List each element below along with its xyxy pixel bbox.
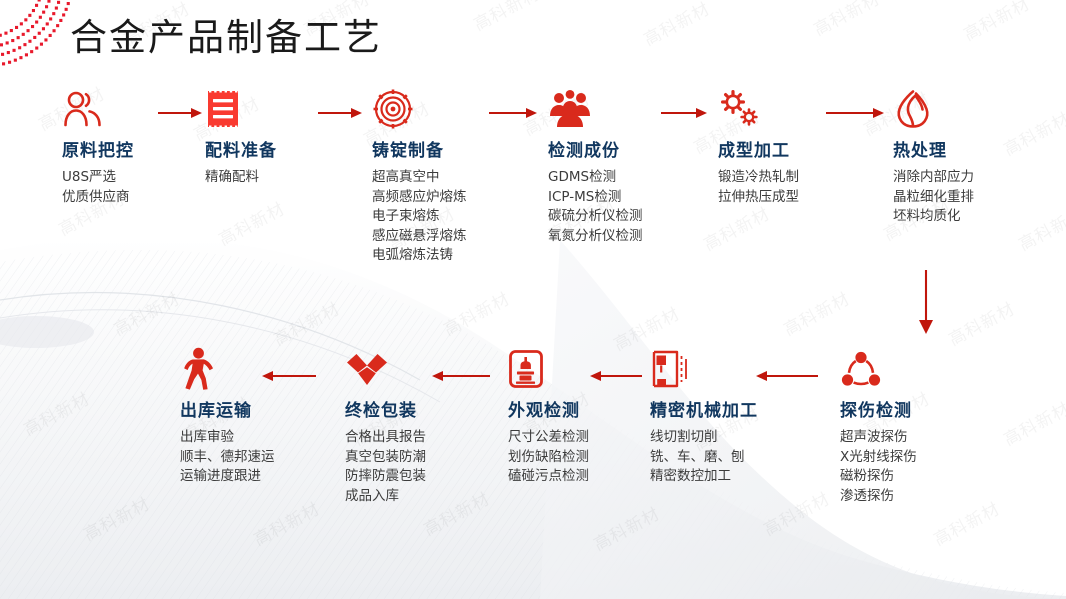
arrow-down-row-connector xyxy=(900,268,952,338)
process-step-detail-line: 锻造冷热轧制 xyxy=(718,168,868,188)
process-step-detail-line: 真空包装防潮 xyxy=(345,448,495,468)
process-step-detail-line: 精确配料 xyxy=(205,168,355,188)
process-step-detail-line: 氧氮分析仪检测 xyxy=(548,227,698,247)
process-step-detail-line: 磁粉探伤 xyxy=(840,467,990,487)
process-step-detail-line: 线切割切削 xyxy=(650,428,800,448)
process-row-bottom: 出库运输出库审验顺丰、德邦速运运输进度跟进 终检包装合格出具报告真空包装防潮防摔… xyxy=(0,348,1066,538)
process-step-details: GDMS检测ICP-MS检测碳硫分析仪检测氧氮分析仪检测 xyxy=(548,168,698,246)
watermark-text: 高科新材 xyxy=(943,295,1018,351)
dotted-arc-decoration xyxy=(0,0,74,86)
process-step-details: U8S严选优质供应商 xyxy=(62,168,212,207)
process-step-details: 消除内部应力晶粒细化重排坯料均质化 xyxy=(893,168,1043,227)
process-step-detail-line: 运输进度跟进 xyxy=(180,467,330,487)
process-step-detail-line: GDMS检测 xyxy=(548,168,698,188)
process-step-detail-line: 消除内部应力 xyxy=(893,168,1043,188)
process-step-detail-line: U8S严选 xyxy=(62,168,212,188)
watermark-text: 高科新材 xyxy=(778,285,853,341)
process-step-details: 精确配料 xyxy=(205,168,355,188)
process-step-detail-line: 防摔防震包装 xyxy=(345,467,495,487)
process-step-detail-line: 感应磁悬浮熔炼 xyxy=(372,227,522,247)
arrow-left-4 xyxy=(756,368,818,384)
flame-icon xyxy=(893,88,1043,130)
process-step-detail-line: 合格出具报告 xyxy=(345,428,495,448)
process-step-detail-line: 渗透探伤 xyxy=(840,487,990,507)
watermark-text: 高科新材 xyxy=(958,0,1033,45)
watermark-text: 高科新材 xyxy=(268,295,343,351)
process-step-heat-treatment[interactable]: 热处理消除内部应力晶粒细化重排坯料均质化 xyxy=(893,88,1043,227)
process-step-detail-line: 超高真空中 xyxy=(372,168,522,188)
process-step-detail-line: 尺寸公差检测 xyxy=(508,428,658,448)
process-step-title: 配料准备 xyxy=(205,136,355,161)
watermark-text: 高科新材 xyxy=(438,285,513,341)
watermark-text: 高科新材 xyxy=(468,0,543,35)
process-step-detail-line: 磕碰污点检测 xyxy=(508,467,658,487)
process-step-title: 检测成份 xyxy=(548,136,698,161)
process-step-title: 热处理 xyxy=(893,136,1043,161)
arrow-right-2 xyxy=(318,105,362,121)
process-step-title: 成型加工 xyxy=(718,136,868,161)
process-step-detail-line: 电弧熔炼法铸 xyxy=(372,246,522,266)
process-step-detail-line: X光射线探伤 xyxy=(840,448,990,468)
process-step-detail-line: ICP-MS检测 xyxy=(548,188,698,208)
process-step-detail-line: 碳硫分析仪检测 xyxy=(548,207,698,227)
process-step-detail-line: 铣、车、磨、刨 xyxy=(650,448,800,468)
arrow-right-5 xyxy=(826,105,884,121)
process-step-flaw-detection[interactable]: 探伤检测超声波探伤X光射线探伤磁粉探伤渗透探伤 xyxy=(840,348,990,506)
process-step-title: 出库运输 xyxy=(180,396,330,421)
watermark-text: 高科新材 xyxy=(638,0,713,50)
process-step-title: 精密机械加工 xyxy=(650,396,800,421)
process-step-title: 终检包装 xyxy=(345,396,495,421)
process-step-title: 铸锭制备 xyxy=(372,136,522,161)
arrow-left-3 xyxy=(590,368,642,384)
arrow-left-1 xyxy=(262,368,316,384)
process-step-title: 外观检测 xyxy=(508,396,658,421)
process-step-detail-line: 划伤缺陷检测 xyxy=(508,448,658,468)
process-step-detail-line: 晶粒细化重排 xyxy=(893,188,1043,208)
process-step-detail-line: 坯料均质化 xyxy=(893,207,1043,227)
process-step-details: 线切割切削铣、车、磨、刨精密数控加工 xyxy=(650,428,800,487)
process-step-detail-line: 高频感应炉熔炼 xyxy=(372,188,522,208)
process-step-detail-line: 拉伸热压成型 xyxy=(718,188,868,208)
process-step-detail-line: 精密数控加工 xyxy=(650,467,800,487)
arrow-left-2 xyxy=(432,368,490,384)
process-step-title: 探伤检测 xyxy=(840,396,990,421)
process-step-detail-line: 出库审验 xyxy=(180,428,330,448)
process-step-details: 超高真空中高频感应炉熔炼电子束熔炼感应磁悬浮熔炼电弧熔炼法铸 xyxy=(372,168,522,266)
process-step-details: 锻造冷热轧制拉伸热压成型 xyxy=(718,168,868,207)
three-node-icon xyxy=(840,348,990,390)
arrow-right-3 xyxy=(489,105,537,121)
process-step-details: 合格出具报告真空包装防潮防摔防震包装成品入库 xyxy=(345,428,495,506)
process-step-detail-line: 成品入库 xyxy=(345,487,495,507)
process-step-detail-line: 超声波探伤 xyxy=(840,428,990,448)
process-step-detail-line: 电子束熔炼 xyxy=(372,207,522,227)
process-step-batching-preparation[interactable]: 配料准备精确配料 xyxy=(205,88,355,188)
process-step-detail-line: 优质供应商 xyxy=(62,188,212,208)
watermark-text: 高科新材 xyxy=(808,0,883,40)
process-step-details: 尺寸公差检测划伤缺陷检测磕碰污点检测 xyxy=(508,428,658,487)
process-step-details: 出库审验顺丰、德邦速运运输进度跟进 xyxy=(180,428,330,487)
process-step-details: 超声波探伤X光射线探伤磁粉探伤渗透探伤 xyxy=(840,428,990,506)
page-title: 合金产品制备工艺 xyxy=(70,7,382,61)
arrow-right-1 xyxy=(158,105,202,121)
watermark-text: 高科新材 xyxy=(108,285,183,341)
process-step-title: 原料把控 xyxy=(62,136,212,161)
arrow-right-4 xyxy=(661,105,707,121)
process-step-detail-line: 顺丰、德邦速运 xyxy=(180,448,330,468)
